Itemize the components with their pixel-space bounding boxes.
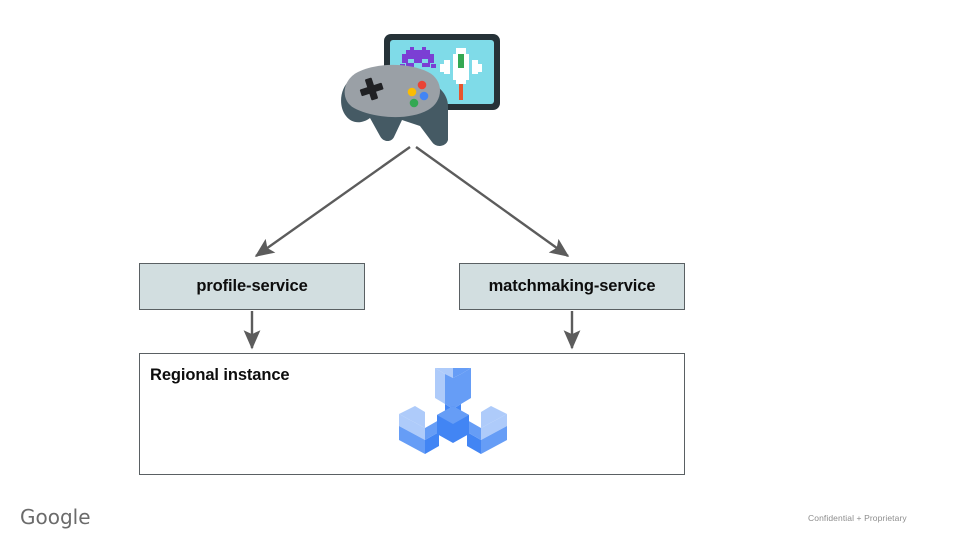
button-red (418, 81, 427, 90)
google-logo: Google (20, 505, 91, 529)
slide-canvas: profile-service matchmaking-service Regi… (0, 0, 960, 540)
button-blue (420, 92, 429, 101)
edge-client-to-profile-service (256, 147, 410, 256)
node-regional-instance[interactable]: Regional instance (139, 353, 685, 475)
game-controller-and-screen-icon (336, 28, 504, 148)
node-regional-instance-title: Regional instance (150, 366, 290, 385)
controller-icon (341, 65, 448, 146)
edge-client-to-matchmaking-service (416, 147, 568, 256)
google-kubernetes-engine-icon (393, 362, 513, 468)
node-matchmaking-service[interactable]: matchmaking-service (459, 263, 685, 310)
button-green (410, 99, 419, 108)
node-profile-service[interactable]: profile-service (139, 263, 365, 310)
node-matchmaking-service-label: matchmaking-service (489, 277, 656, 296)
node-profile-service-label: profile-service (196, 277, 307, 296)
confidentiality-note: Confidential + Proprietary (808, 513, 907, 523)
button-yellow (408, 88, 417, 97)
